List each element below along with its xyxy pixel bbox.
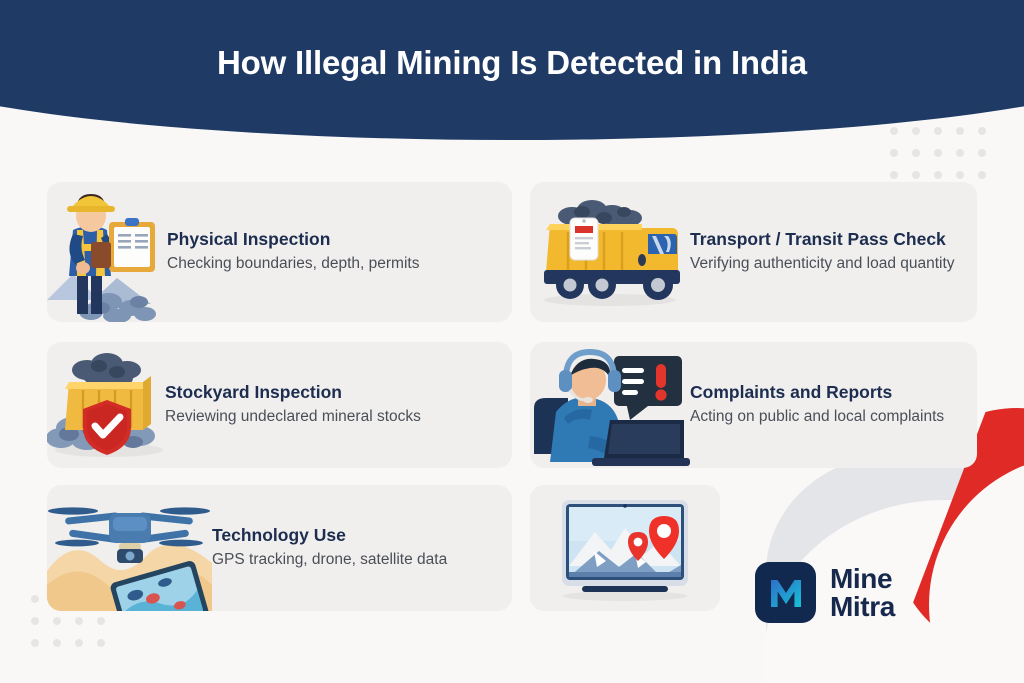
card-title: Technology Use xyxy=(212,525,498,547)
brand-logo[interactable]: Mine Mitra xyxy=(755,562,895,623)
card-satellite-map-visual[interactable] xyxy=(530,485,720,611)
card-description: Checking boundaries, depth, permits xyxy=(167,254,498,275)
card-description: Verifying authenticity and load quantity xyxy=(690,254,963,275)
card-text-physical-inspection: Physical Inspection Checking boundaries,… xyxy=(167,229,512,276)
card-title: Complaints and Reports xyxy=(690,382,963,404)
card-text-technology-use: Technology Use GPS tracking, drone, sate… xyxy=(212,525,512,572)
card-title: Physical Inspection xyxy=(167,229,498,251)
logo-word-line2: Mitra xyxy=(830,593,895,621)
card-title: Stockyard Inspection xyxy=(165,382,498,404)
card-description: GPS tracking, drone, satellite data xyxy=(212,550,498,571)
card-transport-transit-pass-check[interactable]: Transport / Transit Pass Check Verifying… xyxy=(530,182,977,322)
card-complaints-and-reports[interactable]: Complaints and Reports Acting on public … xyxy=(530,342,977,468)
logo-word-line1: Mine xyxy=(830,565,895,593)
card-text-complaints-and-reports: Complaints and Reports Acting on public … xyxy=(690,382,977,429)
card-stockyard-inspection[interactable]: Stockyard Inspection Reviewing undeclare… xyxy=(47,342,512,468)
card-technology-use[interactable]: Technology Use GPS tracking, drone, sate… xyxy=(47,485,512,611)
logo-mark-icon xyxy=(755,562,816,623)
coal-container-shield-check-icon xyxy=(47,342,165,468)
drone-dunes-tablet-icon xyxy=(47,485,212,611)
infographic-poster: How Illegal Mining Is Detected in India xyxy=(0,0,1024,683)
dot-grid-top-right xyxy=(890,127,986,179)
card-physical-inspection[interactable]: Physical Inspection Checking boundaries,… xyxy=(47,182,512,322)
worker-clipboard-rocks-icon xyxy=(47,182,167,322)
page-title: How Illegal Mining Is Detected in India xyxy=(0,44,1024,82)
logo-wordmark: Mine Mitra xyxy=(830,565,895,621)
card-title: Transport / Transit Pass Check xyxy=(690,229,963,251)
card-text-transport-transit-pass-check: Transport / Transit Pass Check Verifying… xyxy=(690,229,977,276)
support-agent-headset-laptop-alert-icon xyxy=(530,342,690,468)
card-text-stockyard-inspection: Stockyard Inspection Reviewing undeclare… xyxy=(165,382,512,429)
card-description: Acting on public and local complaints xyxy=(690,407,963,428)
tablet-mountains-map-pins-icon xyxy=(530,485,720,611)
card-description: Reviewing undeclared mineral stocks xyxy=(165,407,498,428)
dump-truck-coal-pass-icon xyxy=(530,182,690,322)
